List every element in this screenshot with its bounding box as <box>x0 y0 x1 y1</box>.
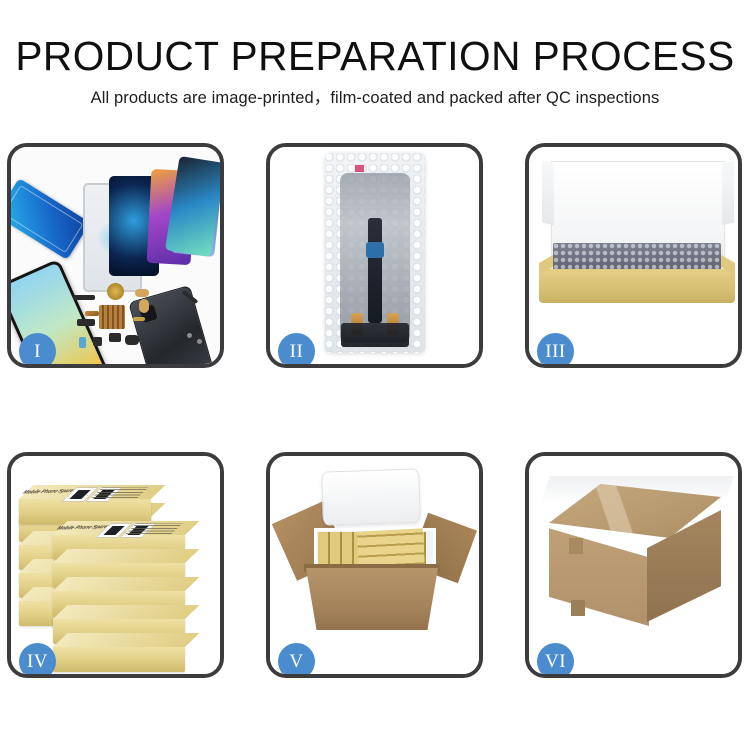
step-panel-4[interactable]: Mobile Phone Spare Parts Mobile Phone Sp… <box>7 452 224 678</box>
ic-grid-part <box>99 305 125 329</box>
flex-cable-part-2 <box>139 299 149 313</box>
step-panel-1[interactable]: I <box>7 143 224 368</box>
inner-box-base <box>539 269 735 303</box>
foam-lid <box>321 468 421 525</box>
step-panel-5[interactable]: V <box>266 452 483 678</box>
step-image-6 <box>529 456 738 674</box>
screen-flex-cable <box>368 218 382 323</box>
battery-connector-part <box>73 295 95 300</box>
step-badge-1: I <box>19 333 56 368</box>
screw-part-2 <box>197 339 202 344</box>
step-badge-6: VI <box>537 643 574 678</box>
step-badge-5: V <box>278 643 315 678</box>
camera-part <box>125 335 139 345</box>
stacked-box <box>53 646 185 672</box>
screw-part <box>187 333 192 338</box>
step-badge-2: II <box>278 333 315 368</box>
step-image-1 <box>11 147 220 364</box>
small-module-part <box>77 319 95 326</box>
step-panel-6[interactable]: VI <box>525 452 742 678</box>
box-stack: Mobile Phone Spare Parts Mobile Phone Sp… <box>17 474 215 654</box>
blue-screen-film <box>11 178 90 260</box>
flex-cable-part <box>135 289 149 297</box>
step-panel-3[interactable]: III <box>525 143 742 368</box>
vibrator-part <box>93 337 102 346</box>
pink-label-tab <box>355 165 364 172</box>
button-part <box>109 333 121 342</box>
carton-front-wall <box>306 568 438 630</box>
step-image-5 <box>270 456 479 674</box>
step-badge-4: IV <box>19 643 56 678</box>
step-image-4: Mobile Phone Spare Parts Mobile Phone Sp… <box>11 456 220 674</box>
screen-bottom-strip <box>341 323 409 347</box>
carton-seam-bottom <box>571 600 585 616</box>
bubble-wrap-bag <box>325 153 425 353</box>
step-panel-2[interactable]: II <box>266 143 483 368</box>
carton-left-face <box>549 522 649 626</box>
step-badge-3: III <box>537 333 574 368</box>
copper-contact-part <box>85 311 99 316</box>
step-image-2 <box>270 147 479 364</box>
process-step-grid: I II <box>0 0 750 750</box>
carton-seam-top <box>569 538 583 554</box>
speaker-part <box>107 283 124 300</box>
gold-pin-part <box>133 317 145 321</box>
sensor-part <box>79 337 86 348</box>
step-image-3 <box>529 147 738 364</box>
